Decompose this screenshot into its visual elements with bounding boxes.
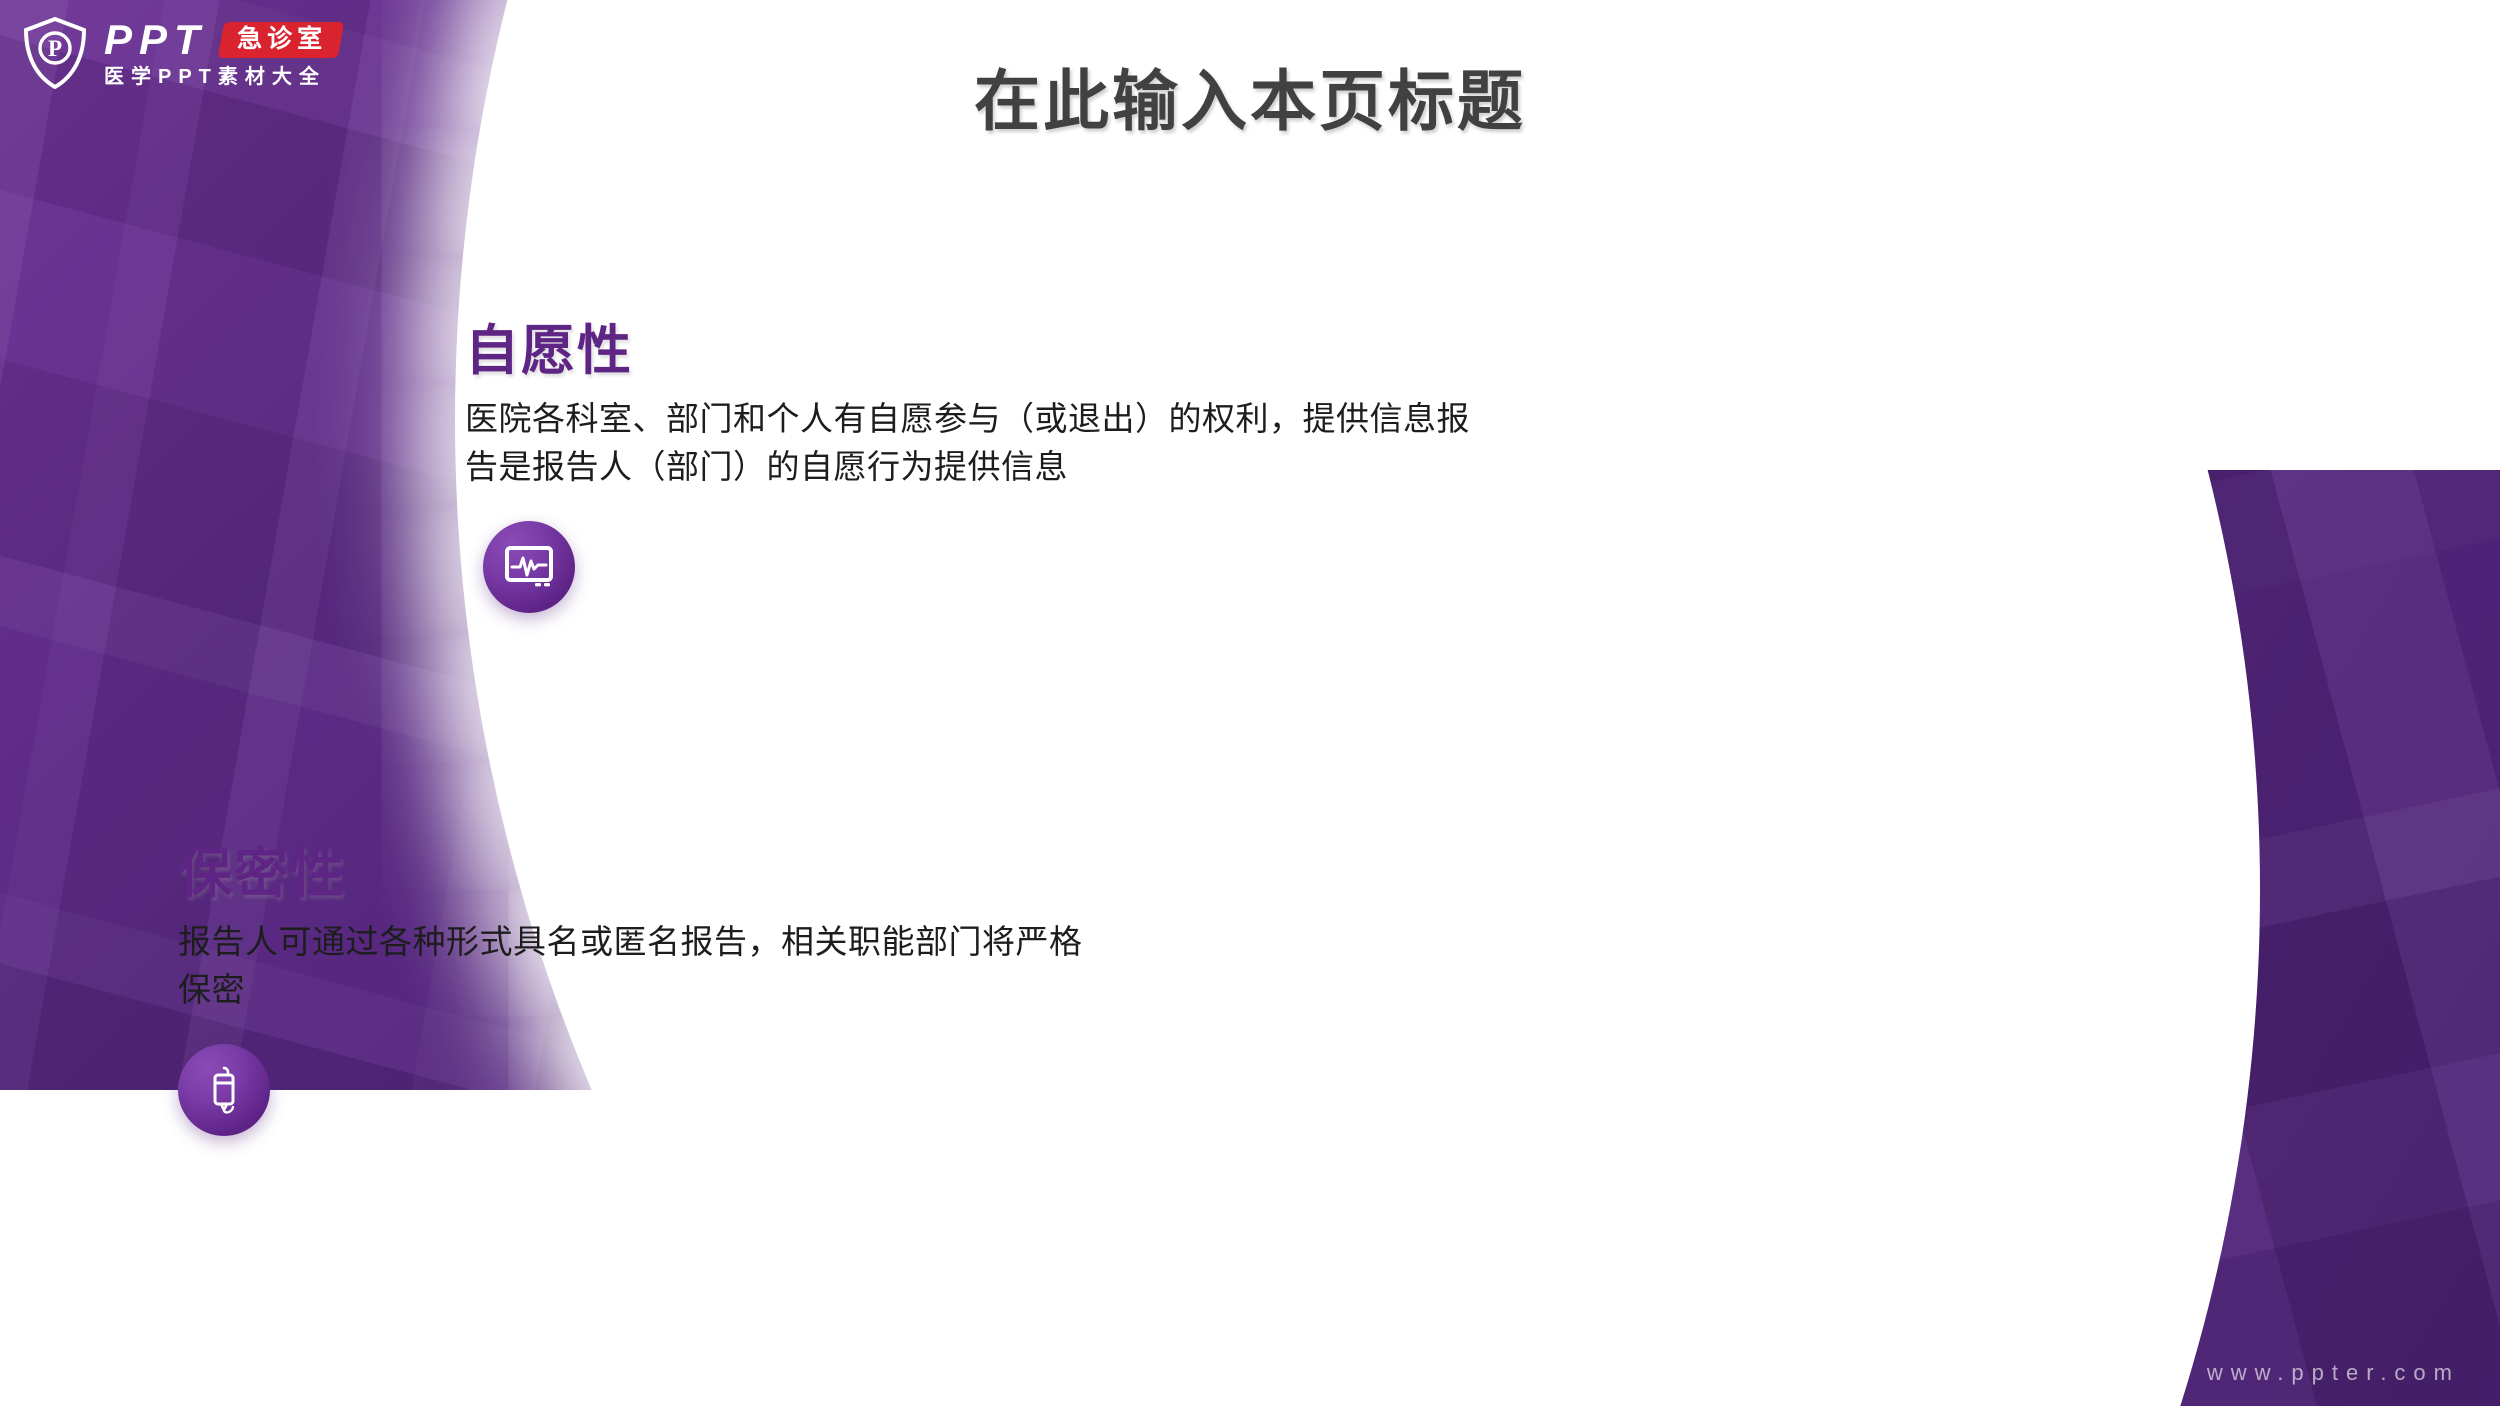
- logo-brand-text: PPT: [104, 19, 207, 61]
- shield-p-icon: P: [22, 16, 88, 90]
- block-heading-voluntary: 自愿性: [465, 322, 1965, 381]
- content-block-voluntary: 自愿性 医院各科室、部门和个人有自愿参与（或退出）的权利，提供信息报 告是报告人…: [465, 322, 1965, 613]
- iv-drip-icon[interactable]: [178, 1044, 270, 1136]
- logo-top-row: PPT 急诊室: [104, 19, 341, 61]
- logo-tagline: 医学PPT素材大全: [104, 67, 341, 87]
- svg-text:P: P: [48, 36, 62, 61]
- logo-text-group: PPT 急诊室 医学PPT素材大全: [104, 19, 341, 87]
- slide-canvas: P PPT 急诊室 医学PPT素材大全 在此输入本页标题 自愿性 医院各科室、部…: [0, 0, 2500, 1406]
- logo-badge: 急诊室: [218, 22, 344, 58]
- page-title: 在此输入本页标题: [0, 48, 2500, 144]
- ecg-monitor-icon[interactable]: [483, 521, 575, 613]
- block-body-voluntary: 医院各科室、部门和个人有自愿参与（或退出）的权利，提供信息报 告是报告人（部门）…: [465, 395, 1965, 491]
- footer-watermark-url: www.ppter.com: [2207, 1360, 2460, 1386]
- block-heading-confidential: 保密性: [178, 845, 1578, 904]
- brand-logo[interactable]: P PPT 急诊室 医学PPT素材大全: [22, 16, 341, 90]
- content-block-confidential: 保密性 报告人可通过各种形式具名或匿名报告，相关职能部门将严格 保密: [178, 845, 1578, 1136]
- logo-badge-label: 急诊室: [237, 27, 327, 52]
- block-body-confidential: 报告人可通过各种形式具名或匿名报告，相关职能部门将严格 保密: [178, 918, 1578, 1014]
- background-decoration: [0, 0, 2500, 1406]
